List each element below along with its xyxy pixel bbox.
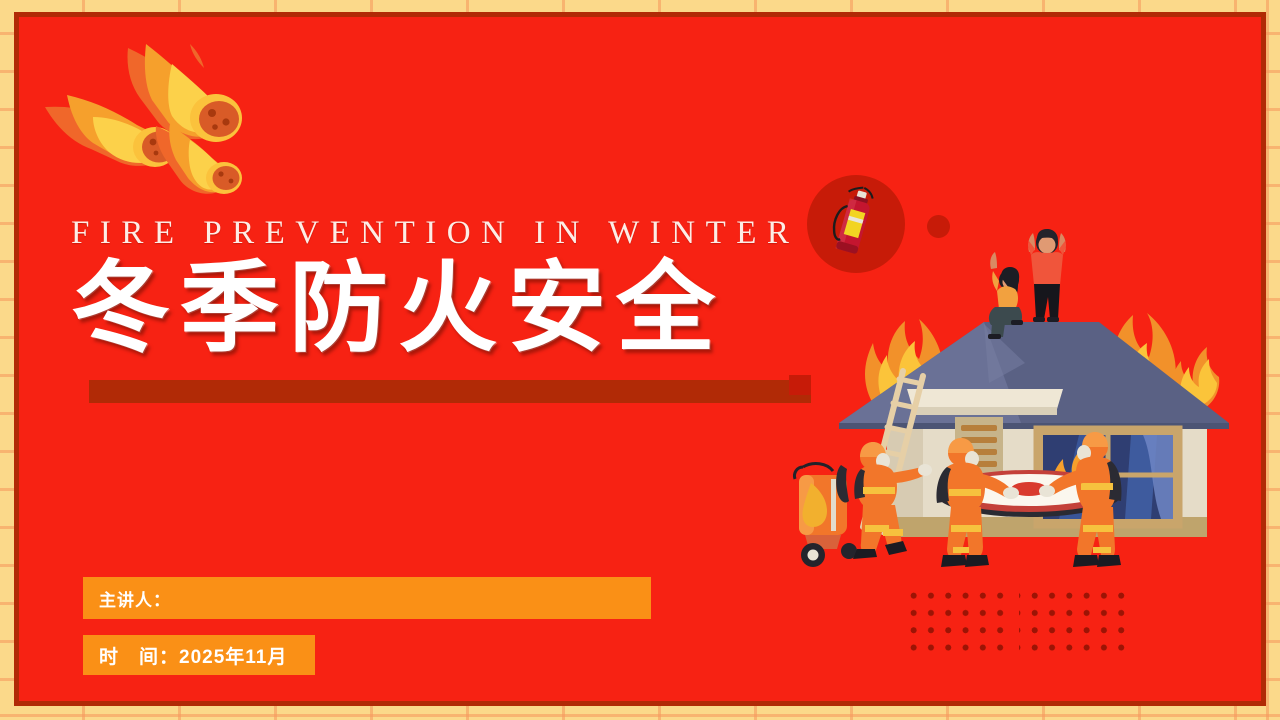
english-title: FIRE PREVENTION IN WINTER — [71, 215, 831, 251]
flaming-meteor-icon-3 — [154, 122, 274, 202]
date-label: 时 间：2025年11月 — [99, 642, 287, 669]
title-underline-bar — [89, 380, 811, 403]
presenter-label: 主讲人： — [99, 586, 171, 611]
chinese-title: 冬季防火安全 — [71, 257, 831, 364]
slide-frame: FIRE PREVENTION IN WINTER 冬季防火安全 主讲人： 时 … — [14, 12, 1266, 706]
title-block: FIRE PREVENTION IN WINTER 冬季防火安全 — [71, 215, 831, 364]
dot-grid-pattern — [903, 585, 1133, 653]
presenter-field[interactable]: 主讲人： — [83, 577, 651, 619]
wheeled-fire-extinguisher — [794, 464, 857, 567]
date-field[interactable]: 时 间：2025年11月 — [83, 635, 315, 675]
burning-house-rescue-illustration — [779, 157, 1259, 572]
slide-canvas: FIRE PREVENTION IN WINTER 冬季防火安全 主讲人： 时 … — [19, 17, 1261, 701]
